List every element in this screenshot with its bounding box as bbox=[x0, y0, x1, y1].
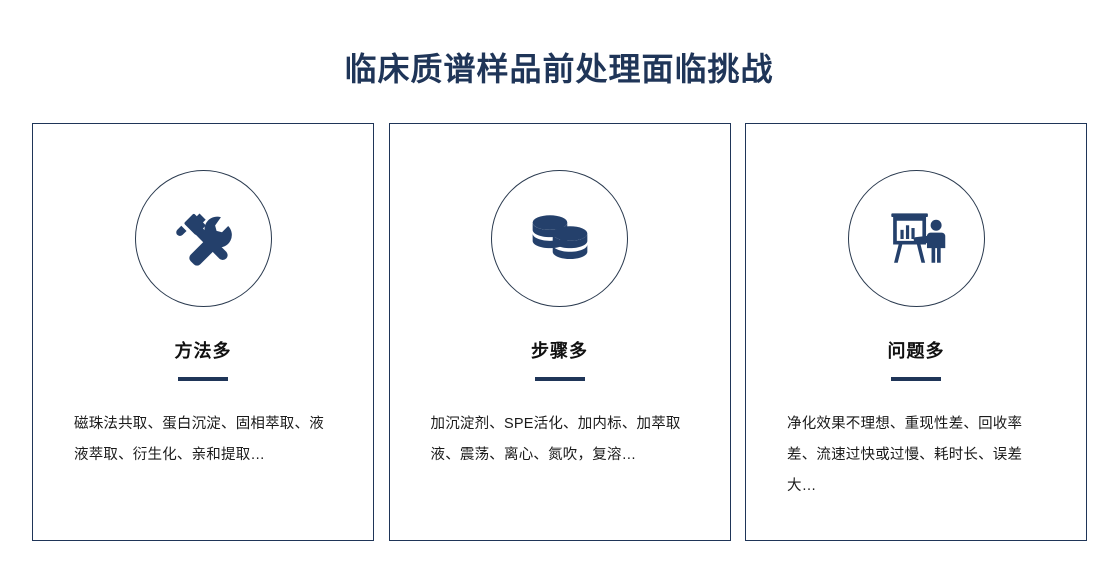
cards-container: 方法多 磁珠法共取、蛋白沉淀、固相萃取、液液萃取、衍生化、亲和提取… bbox=[32, 123, 1087, 541]
card-body-text: 磁珠法共取、蛋白沉淀、固相萃取、液液萃取、衍生化、亲和提取… bbox=[74, 409, 332, 471]
icon-circle-steps bbox=[491, 170, 628, 307]
icon-circle-methods bbox=[135, 170, 272, 307]
card-body-text: 净化效果不理想、重现性差、回收率差、流速过快或过慢、耗时长、误差大… bbox=[787, 409, 1045, 502]
infographic-page: 临床质谱样品前处理面临挑战 方法多 bbox=[0, 0, 1118, 579]
icon-circle-problems bbox=[848, 170, 985, 307]
card-steps: 步骤多 加沉淀剂、SPE活化、加内标、加萃取液、震荡、离心、氮吹，复溶… bbox=[389, 123, 731, 541]
card-body-text: 加沉淀剂、SPE活化、加内标、加萃取液、震荡、离心、氮吹，复溶… bbox=[431, 409, 689, 471]
card-divider bbox=[535, 377, 585, 381]
hammer-wrench-icon bbox=[172, 208, 234, 270]
card-title: 方法多 bbox=[175, 339, 232, 363]
card-divider bbox=[178, 377, 228, 381]
card-problems: 问题多 净化效果不理想、重现性差、回收率差、流速过快或过慢、耗时长、误差大… bbox=[745, 123, 1087, 541]
card-title: 步骤多 bbox=[531, 339, 588, 363]
card-methods: 方法多 磁珠法共取、蛋白沉淀、固相萃取、液液萃取、衍生化、亲和提取… bbox=[32, 123, 374, 541]
database-stack-icon bbox=[529, 211, 591, 267]
card-title: 问题多 bbox=[888, 339, 945, 363]
page-title: 临床质谱样品前处理面临挑战 bbox=[0, 49, 1118, 89]
presentation-board-icon bbox=[884, 209, 948, 269]
card-divider bbox=[891, 377, 941, 381]
